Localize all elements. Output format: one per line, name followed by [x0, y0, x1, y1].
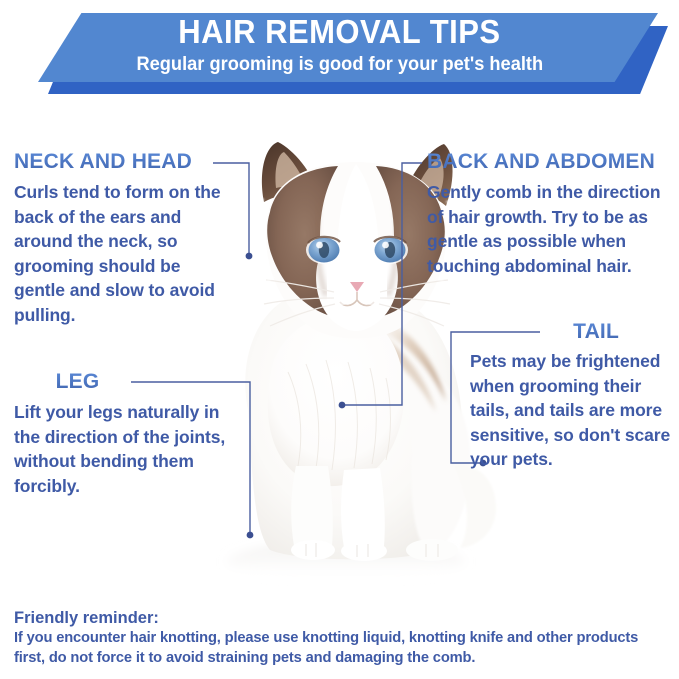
callout-heading-neck-and-head: NECK AND HEAD: [14, 150, 229, 174]
callout-body-leg: Lift your legs naturally in the directio…: [14, 400, 229, 498]
friendly-reminder-body: If you encounter hair knotting, please u…: [14, 629, 669, 668]
callout-back-and-abdomen: BACK AND ABDOMEN Gently comb in the dire…: [427, 150, 677, 278]
callout-body-back-and-abdomen: Gently comb in the direction of hair gro…: [427, 180, 677, 278]
infographic-page: HAIR REMOVAL TIPS Regular grooming is go…: [0, 0, 679, 679]
page-subtitle: Regular grooming is good for your pet's …: [136, 53, 543, 77]
page-title: HAIR REMOVAL TIPS: [178, 13, 500, 50]
callout-heading-back-and-abdomen: BACK AND ABDOMEN: [427, 150, 677, 174]
callout-heading-tail: TAIL: [470, 320, 675, 344]
callout-body-neck-and-head: Curls tend to form on the back of the ea…: [14, 180, 229, 327]
callout-tail: TAIL Pets may be frightened when groomin…: [470, 320, 675, 472]
callout-leg: LEG Lift your legs naturally in the dire…: [14, 370, 229, 498]
callout-heading-leg: LEG: [14, 370, 229, 394]
friendly-reminder-title: Friendly reminder:: [14, 608, 669, 629]
callout-neck-and-head: NECK AND HEAD Curls tend to form on the …: [14, 150, 229, 327]
callout-body-tail: Pets may be frightened when grooming the…: [470, 349, 675, 472]
header-banner: HAIR REMOVAL TIPS Regular grooming is go…: [0, 0, 679, 110]
banner-text-group: HAIR REMOVAL TIPS Regular grooming is go…: [0, 13, 679, 91]
friendly-reminder: Friendly reminder: If you encounter hair…: [14, 608, 669, 668]
